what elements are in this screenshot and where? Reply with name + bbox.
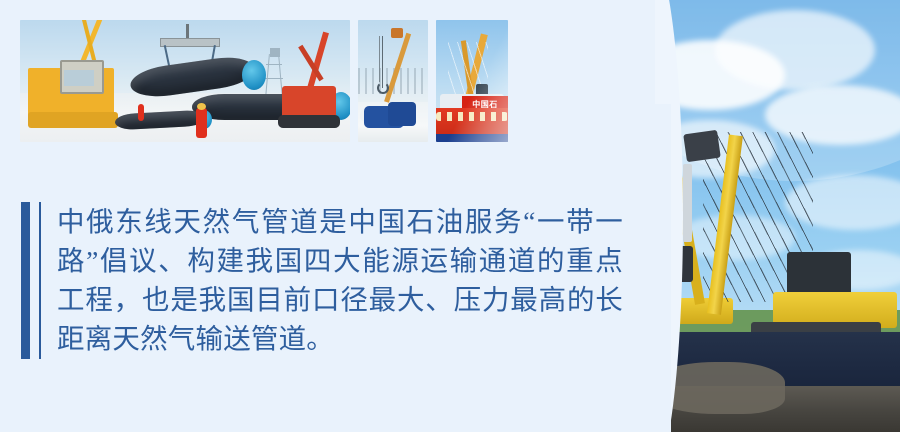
quote-block: 中俄东线天然气管道是中国石油服务“一带一路”倡议、构建我国四大能源运输通道的重点… bbox=[21, 202, 623, 359]
worker-figure bbox=[196, 108, 207, 138]
quote-text: 中俄东线天然气管道是中国石油服务“一带一路”倡议、构建我国四大能源运输通道的重点… bbox=[57, 202, 623, 359]
crane-cable bbox=[382, 36, 383, 88]
worker-figure bbox=[138, 104, 144, 121]
excavator-track bbox=[278, 115, 340, 128]
transmission-pylon-icon bbox=[265, 46, 283, 98]
equipment-blue-secondary bbox=[388, 102, 416, 126]
pipelayer-cylinder bbox=[683, 164, 692, 242]
hero-left-edge-fill bbox=[655, 104, 671, 432]
crane-head bbox=[391, 28, 403, 38]
spreader-beam bbox=[160, 38, 220, 47]
bulldozer-window bbox=[64, 70, 94, 86]
photo-pipeline-laying[interactable] bbox=[20, 20, 350, 142]
stage-base bbox=[436, 134, 508, 142]
crane-hook-icon bbox=[377, 82, 389, 94]
pipelayer-mast-head bbox=[683, 130, 721, 162]
bulldozer-track bbox=[28, 112, 118, 128]
photo-crane-equipment[interactable] bbox=[358, 20, 428, 142]
card-root: 中国石 中俄东线天然气管道是中国石油服务“一带一路”倡议、构建我国四大能源运输通… bbox=[0, 0, 900, 432]
worker-helmet bbox=[197, 103, 206, 110]
pipe-end-cap bbox=[242, 60, 266, 90]
photo-ceremony[interactable]: 中国石 bbox=[436, 20, 508, 142]
hero-photo-pipelayer[interactable] bbox=[655, 0, 900, 432]
photo-row: 中国石 bbox=[20, 20, 508, 142]
crane-cable bbox=[379, 36, 380, 82]
quote-accent-bar-thin bbox=[39, 202, 41, 359]
left-content-panel: 中国石 中俄东线天然气管道是中国石油服务“一带一路”倡议、构建我国四大能源运输通… bbox=[0, 0, 660, 432]
quote-accent-bar-thick bbox=[21, 202, 30, 359]
